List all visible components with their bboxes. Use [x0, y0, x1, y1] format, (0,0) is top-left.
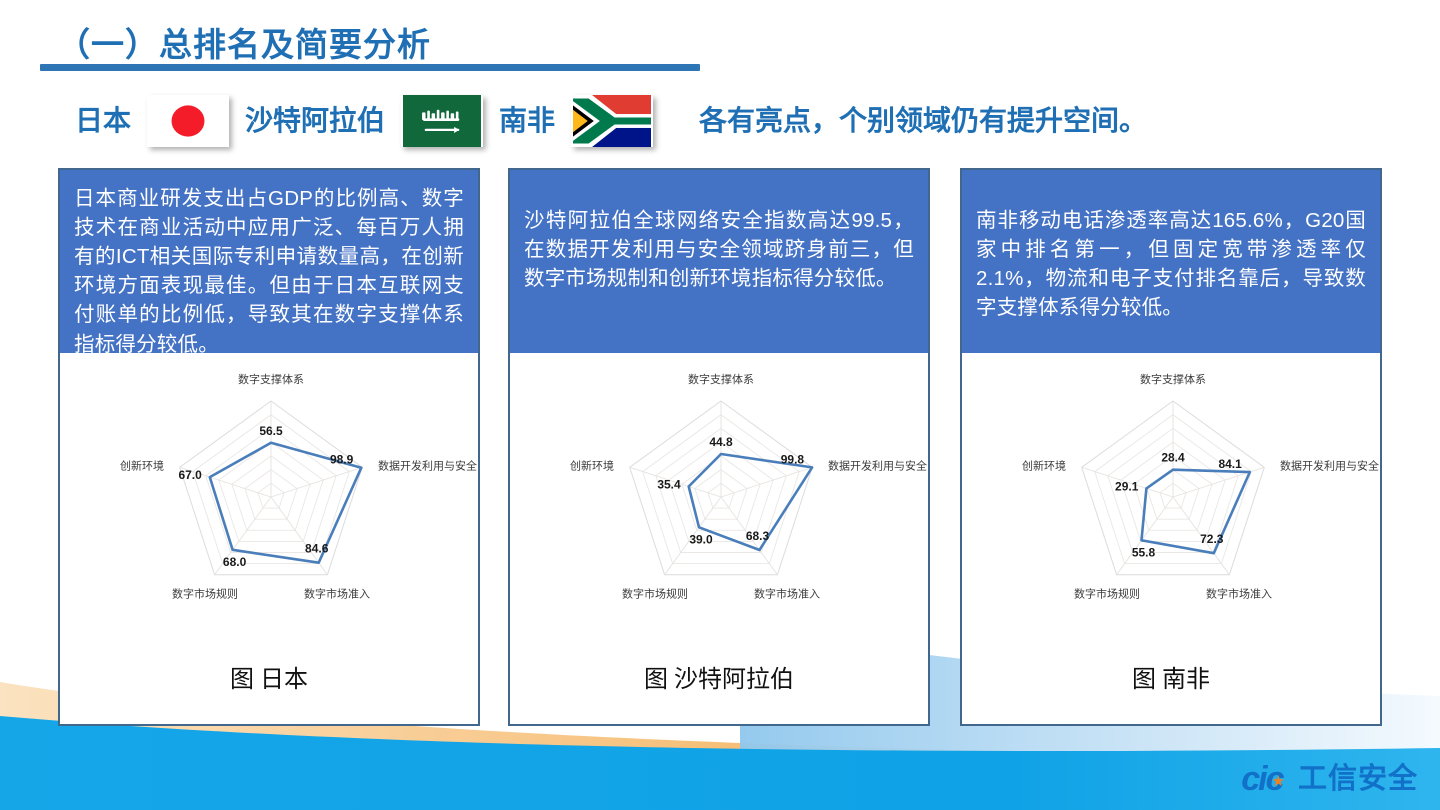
logo-text: 工信安全 [1298, 765, 1418, 794]
svg-text:数字市场准入: 数字市场准入 [304, 587, 370, 601]
summary-panel-southafrica: 南非移动电话渗透率高达165.6%，G20国家中排名第一，但固定宽带渗透率仅2.… [962, 170, 1380, 353]
subtitle-country-southafrica: 南非 [499, 107, 555, 135]
subtitle-country-japan: 日本 [75, 107, 131, 135]
svg-text:数字市场准入: 数字市场准入 [754, 587, 820, 601]
svg-text:84.1: 84.1 [1218, 457, 1242, 471]
svg-text:99.8: 99.8 [781, 452, 805, 466]
svg-text:29.1: 29.1 [1115, 479, 1139, 493]
subtitle-tail-text: 各有亮点，个别领域仍有提升空间。 [699, 107, 1147, 135]
svg-text:55.8: 55.8 [1132, 545, 1156, 559]
svg-text:数字市场规则: 数字市场规则 [622, 587, 688, 601]
svg-text:数据开发利用与安全: 数据开发利用与安全 [828, 459, 927, 473]
svg-text:数字市场准入: 数字市场准入 [1206, 587, 1272, 601]
svg-text:数字市场规则: 数字市场规则 [1074, 587, 1140, 601]
radar-svg-southafrica: 数字支撑体系数据开发利用与安全数字市场准入数字市场规则创新环境28.484.17… [962, 365, 1384, 655]
svg-text:创新环境: 创新环境 [1022, 459, 1066, 473]
country-card-southafrica: 南非移动电话渗透率高达165.6%，G20国家中排名第一，但固定宽带渗透率仅2.… [960, 168, 1382, 726]
saudi-arabia-flag-icon [401, 95, 483, 147]
svg-text:68.3: 68.3 [746, 529, 770, 543]
summary-panel-japan: 日本商业研发支出占GDP的比例高、数字技术在商业活动中应用广泛、每百万人拥有的I… [60, 170, 478, 353]
svg-text:数据开发利用与安全: 数据开发利用与安全 [378, 459, 477, 473]
subtitle-row: 日本 沙特阿拉伯 南非 [75, 92, 1147, 150]
radar-svg-japan: 数字支撑体系数据开发利用与安全数字市场准入数字市场规则创新环境56.598.98… [60, 365, 482, 655]
svg-text:98.9: 98.9 [330, 453, 354, 467]
slide: （一）总排名及简要分析 日本 沙特阿拉伯 [0, 0, 1440, 810]
chart-caption-southafrica: 图 南非 [962, 659, 1380, 694]
summary-panel-saudi: 沙特阿拉伯全球网络安全指数高达99.5，在数据开发利用与安全领域跻身前三，但数字… [510, 170, 928, 353]
svg-text:84.6: 84.6 [305, 542, 329, 556]
svg-text:创新环境: 创新环境 [570, 459, 614, 473]
svg-text:39.0: 39.0 [689, 532, 713, 546]
chart-caption-japan: 图 日本 [60, 659, 478, 694]
svg-text:数字支撑体系: 数字支撑体系 [238, 372, 304, 386]
svg-text:数据开发利用与安全: 数据开发利用与安全 [1280, 459, 1379, 473]
country-card-japan: 日本商业研发支出占GDP的比例高、数字技术在商业活动中应用广泛、每百万人拥有的I… [58, 168, 480, 726]
country-card-saudi: 沙特阿拉伯全球网络安全指数高达99.5，在数据开发利用与安全领域跻身前三，但数字… [508, 168, 930, 726]
svg-text:68.0: 68.0 [223, 555, 247, 569]
page-title: （一）总排名及简要分析 [57, 18, 431, 66]
svg-text:35.4: 35.4 [657, 478, 681, 492]
radar-svg-saudi: 数字支撑体系数据开发利用与安全数字市场准入数字市场规则创新环境44.899.86… [510, 365, 932, 655]
svg-text:数字支撑体系: 数字支撑体系 [1140, 372, 1206, 386]
svg-text:44.8: 44.8 [709, 435, 733, 449]
radar-chart-japan: 数字支撑体系数据开发利用与安全数字市场准入数字市场规则创新环境56.598.98… [60, 353, 478, 724]
svg-text:56.5: 56.5 [259, 424, 283, 438]
svg-text:创新环境: 创新环境 [120, 459, 164, 473]
japan-flag-icon [147, 95, 229, 147]
svg-text:67.0: 67.0 [178, 468, 202, 482]
chart-caption-saudi: 图 沙特阿拉伯 [510, 659, 928, 694]
radar-chart-southafrica: 数字支撑体系数据开发利用与安全数字市场准入数字市场规则创新环境28.484.17… [962, 353, 1380, 724]
svg-text:72.3: 72.3 [1200, 532, 1224, 546]
subtitle-country-saudi: 沙特阿拉伯 [245, 107, 385, 135]
svg-text:数字支撑体系: 数字支撑体系 [688, 372, 754, 386]
south-africa-flag-icon [571, 95, 653, 147]
svg-text:数字市场规则: 数字市场规则 [172, 587, 238, 601]
title-underline-rule [40, 64, 700, 71]
radar-chart-saudi: 数字支撑体系数据开发利用与安全数字市场准入数字市场规则创新环境44.899.86… [510, 353, 928, 724]
svg-text:28.4: 28.4 [1161, 451, 1185, 465]
logo-star-icon: ★ [1272, 772, 1285, 790]
brand-logo: cic ★ 工信安全 [1241, 762, 1418, 796]
